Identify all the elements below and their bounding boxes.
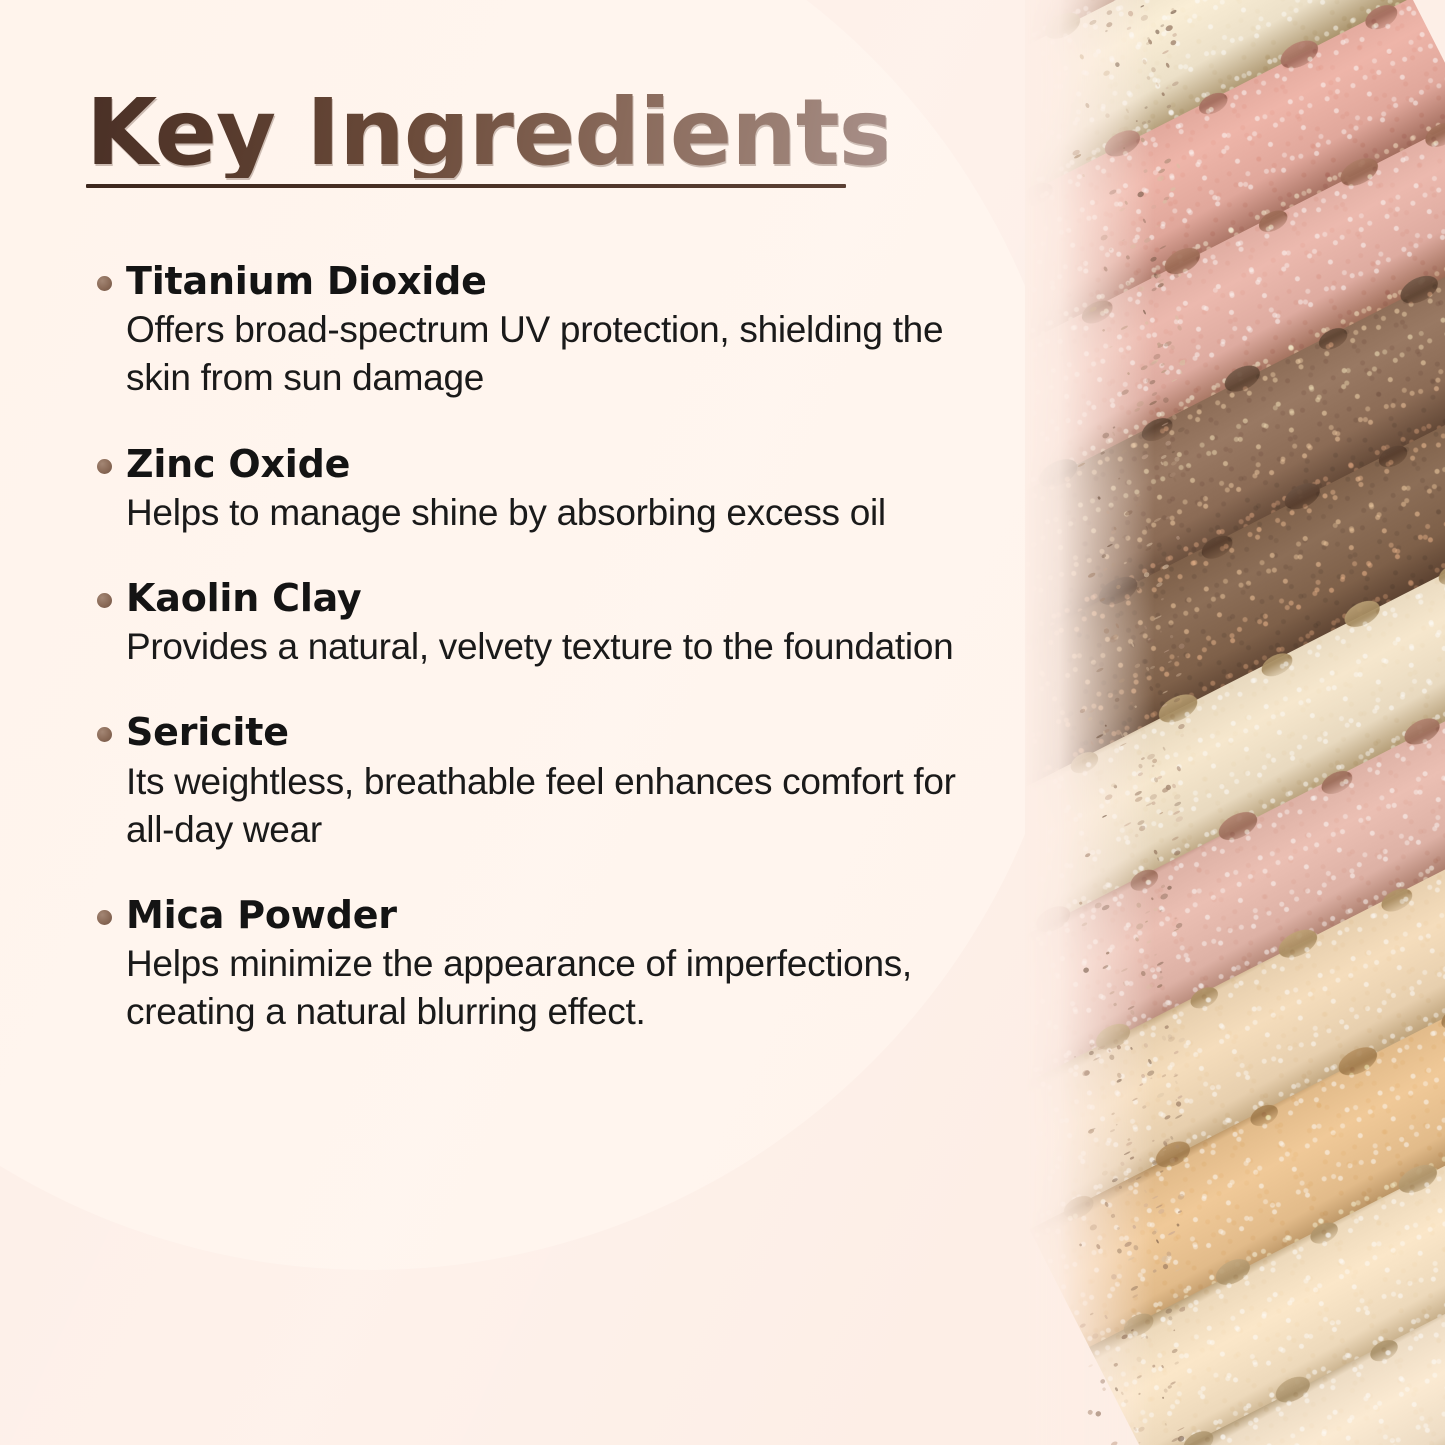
list-item: Kaolin Clay Provides a natural, velvety … (92, 575, 972, 671)
ingredient-list: Titanium Dioxide Offers broad-spectrum U… (92, 258, 972, 1037)
list-item: Zinc Oxide Helps to manage shine by abso… (92, 441, 972, 537)
bullet-dot-icon (97, 459, 112, 474)
key-ingredients-page: Key Ingredients Titanium Dioxide Offers … (0, 0, 1445, 1445)
list-item: Titanium Dioxide Offers broad-spectrum U… (92, 258, 972, 403)
ingredient-description: Helps to manage shine by absorbing exces… (126, 489, 972, 537)
ingredient-name: Kaolin Clay (126, 575, 972, 621)
ingredient-description: Its weightless, breathable feel enhances… (126, 758, 972, 854)
bullet-dot-icon (97, 727, 112, 742)
ingredient-name: Titanium Dioxide (126, 258, 972, 304)
bullet-dot-icon (97, 276, 112, 291)
ingredient-description: Helps minimize the appearance of imperfe… (126, 940, 972, 1036)
content-column: Key Ingredients Titanium Dioxide Offers … (0, 0, 1060, 1445)
ingredient-description: Offers broad-spectrum UV protection, shi… (126, 306, 972, 402)
list-item: Sericite Its weightless, breathable feel… (92, 709, 972, 854)
ingredient-name: Sericite (126, 709, 972, 755)
powder-band-stack (1025, 0, 1445, 1445)
powder-swatch-image (1025, 0, 1445, 1445)
page-title-block: Key Ingredients (86, 88, 886, 188)
bullet-dot-icon (97, 910, 112, 925)
page-title: Key Ingredients (86, 88, 886, 178)
ingredient-name: Zinc Oxide (126, 441, 972, 487)
ingredient-name: Mica Powder (126, 892, 972, 938)
ingredient-description: Provides a natural, velvety texture to t… (126, 623, 972, 671)
bullet-dot-icon (97, 593, 112, 608)
list-item: Mica Powder Helps minimize the appearanc… (92, 892, 972, 1037)
